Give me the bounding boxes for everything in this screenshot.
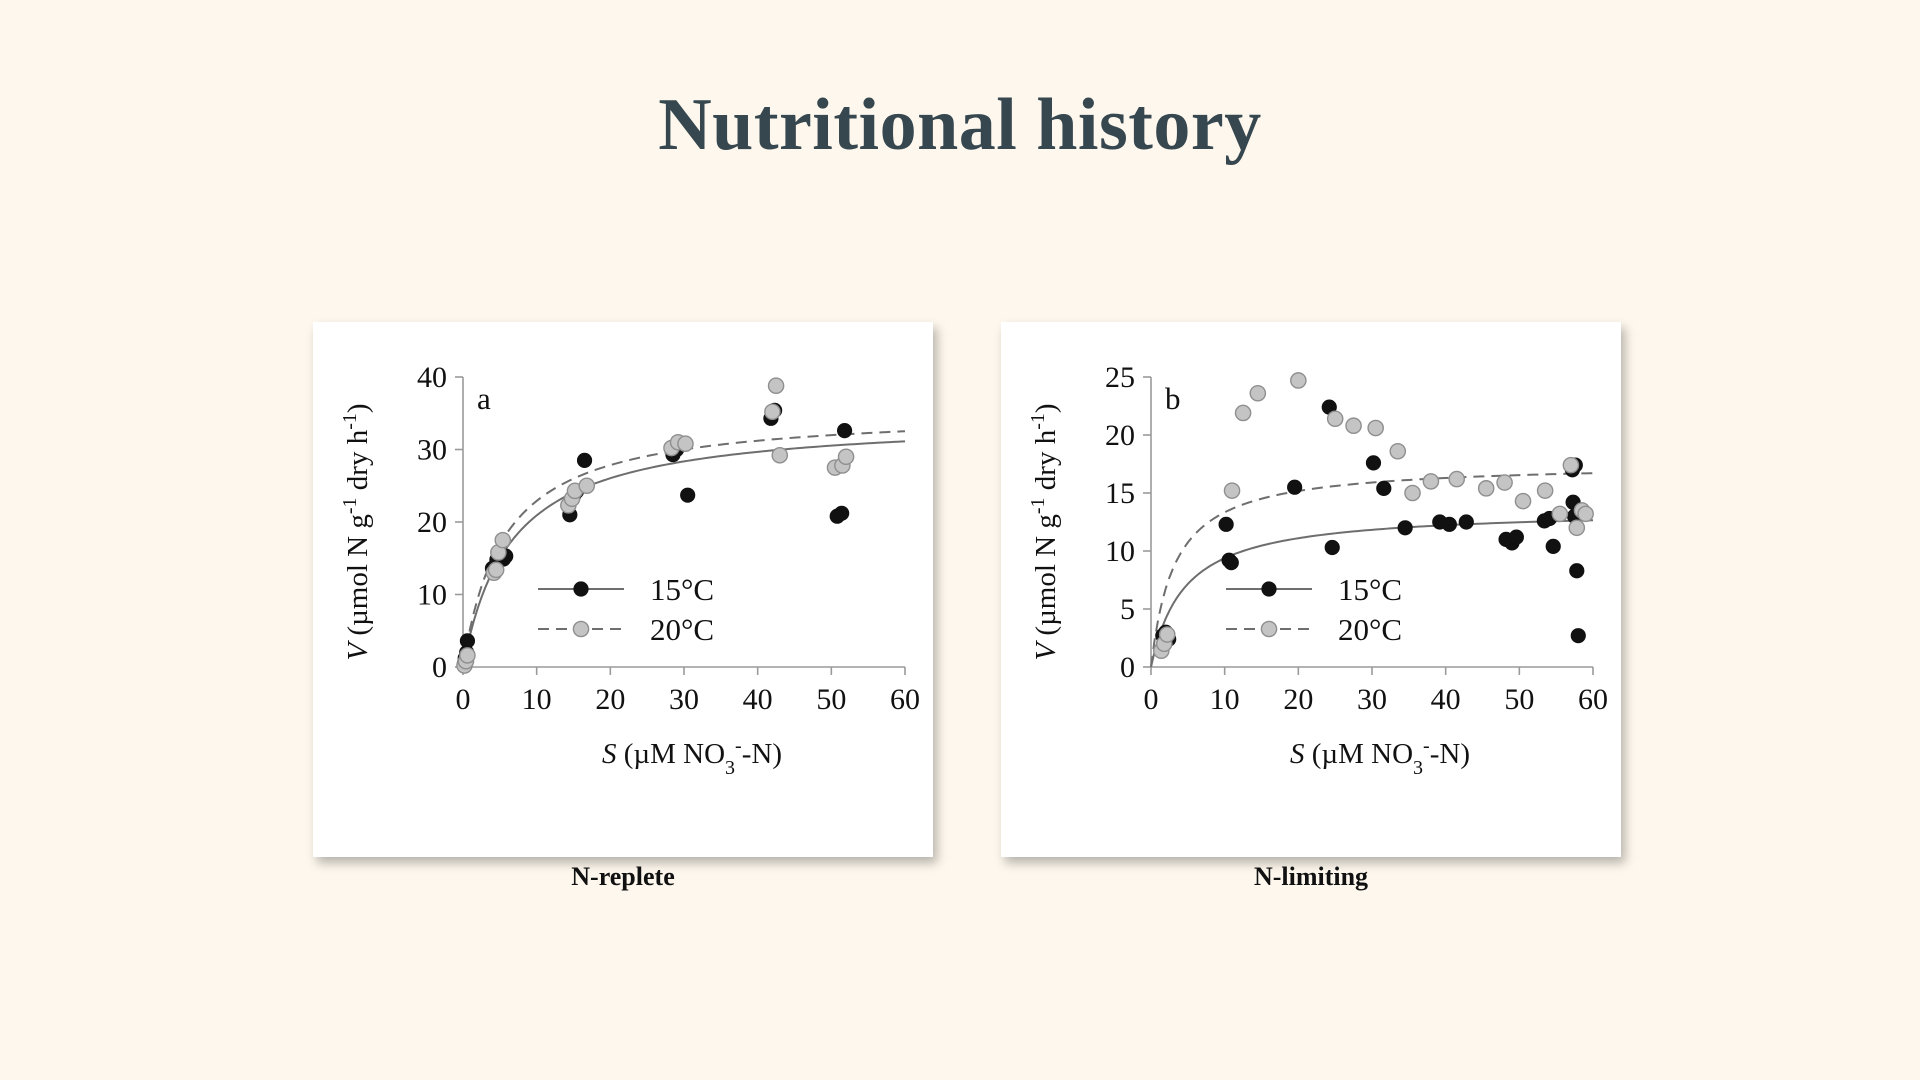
data-point — [1291, 373, 1306, 388]
x-tick-label: 30 — [1357, 683, 1387, 716]
data-point — [1325, 540, 1339, 554]
x-tick-label: 50 — [1504, 683, 1534, 716]
panel-b-caption: N-limiting — [1001, 862, 1621, 892]
data-point — [1571, 628, 1585, 642]
data-point — [1569, 520, 1584, 535]
data-point — [1552, 506, 1567, 521]
x-tick-label: 40 — [743, 683, 773, 716]
data-point — [838, 449, 853, 464]
chart-b-svg: 05101520250102030405060bS (µM NO3--N)V (… — [1001, 322, 1621, 857]
data-point — [1250, 386, 1265, 401]
y-tick-label: 30 — [417, 434, 447, 467]
data-point — [460, 648, 475, 663]
data-point — [1398, 521, 1412, 535]
data-point — [837, 423, 851, 437]
x-tick-label: 60 — [1578, 683, 1608, 716]
data-point — [1346, 418, 1361, 433]
legend-marker-15c — [574, 582, 588, 596]
chart-legend: 15°C20°C — [1226, 572, 1402, 647]
x-tick-label: 20 — [1283, 683, 1313, 716]
data-point — [1235, 405, 1250, 420]
panel-letter: b — [1165, 381, 1181, 416]
data-point — [1563, 458, 1578, 473]
data-point — [1570, 564, 1584, 578]
y-tick-label: 5 — [1120, 593, 1135, 626]
data-point — [1538, 483, 1553, 498]
x-tick-label: 0 — [1144, 683, 1159, 716]
data-point — [678, 436, 693, 451]
data-point — [1515, 494, 1530, 509]
legend-label-15c: 15°C — [650, 572, 714, 607]
data-point — [1449, 471, 1464, 486]
x-tick-label: 60 — [890, 683, 920, 716]
data-point — [1368, 420, 1383, 435]
data-point — [1459, 515, 1473, 529]
page-title: Nutritional history — [0, 88, 1920, 162]
chart-legend: 15°C20°C — [538, 572, 714, 647]
data-point — [460, 634, 474, 648]
data-point — [1509, 530, 1523, 544]
x-tick-label: 30 — [669, 683, 699, 716]
data-point — [1423, 474, 1438, 489]
y-tick-label: 40 — [417, 361, 447, 394]
x-tick-label: 50 — [816, 683, 846, 716]
data-point — [1479, 481, 1494, 496]
data-point — [1366, 456, 1380, 470]
y-axis-title: V (µmol N g-1 dry h-1) — [1027, 403, 1062, 660]
data-point — [579, 478, 594, 493]
data-point — [1546, 539, 1560, 553]
y-tick-label: 10 — [1105, 535, 1135, 568]
slide-root: Nutritional history 01020304001020304050… — [0, 0, 1920, 1080]
legend-marker-15c — [1262, 582, 1276, 596]
panel-a-caption: N-replete — [313, 862, 933, 892]
data-point — [1497, 475, 1512, 490]
legend-marker-20c — [1261, 621, 1276, 636]
data-point — [1224, 483, 1239, 498]
data-point — [1377, 481, 1391, 495]
y-tick-label: 0 — [432, 651, 447, 684]
chart-panel-a: 0102030400102030405060aS (µM NO3--N)V (µ… — [313, 322, 933, 857]
data-point — [1160, 627, 1175, 642]
data-point — [495, 533, 510, 548]
data-point — [1390, 444, 1405, 459]
data-point — [577, 453, 591, 467]
legend-label-20c: 20°C — [1338, 612, 1402, 647]
data-point — [772, 448, 787, 463]
x-tick-label: 40 — [1431, 683, 1461, 716]
data-point — [834, 506, 848, 520]
y-tick-label: 20 — [1105, 419, 1135, 452]
y-tick-label: 20 — [417, 506, 447, 539]
data-point — [1328, 411, 1343, 426]
data-point — [765, 404, 780, 419]
legend-label-15c: 15°C — [1338, 572, 1402, 607]
chart-panel-b: 05101520250102030405060bS (µM NO3--N)V (… — [1001, 322, 1621, 857]
x-tick-label: 10 — [1210, 683, 1240, 716]
y-tick-label: 15 — [1105, 477, 1135, 510]
data-point — [680, 488, 694, 502]
data-point — [1224, 555, 1238, 569]
x-axis-title: S (µM NO3--N) — [1290, 735, 1470, 779]
y-tick-label: 0 — [1120, 651, 1135, 684]
data-point — [1578, 506, 1593, 521]
data-point — [489, 562, 504, 577]
y-axis-title: V (µmol N g-1 dry h-1) — [339, 403, 374, 660]
panel-letter: a — [477, 381, 491, 416]
y-tick-label: 10 — [417, 579, 447, 612]
x-tick-label: 20 — [595, 683, 625, 716]
legend-marker-20c — [573, 621, 588, 636]
data-point — [1405, 485, 1420, 500]
data-point — [1442, 517, 1456, 531]
x-tick-label: 10 — [522, 683, 552, 716]
data-point — [1287, 480, 1301, 494]
data-point — [768, 378, 783, 393]
legend-label-20c: 20°C — [650, 612, 714, 647]
x-axis-title: S (µM NO3--N) — [602, 735, 782, 779]
y-tick-label: 25 — [1105, 361, 1135, 394]
chart-a-svg: 0102030400102030405060aS (µM NO3--N)V (µ… — [313, 322, 933, 857]
data-point — [1219, 517, 1233, 531]
x-tick-label: 0 — [456, 683, 471, 716]
